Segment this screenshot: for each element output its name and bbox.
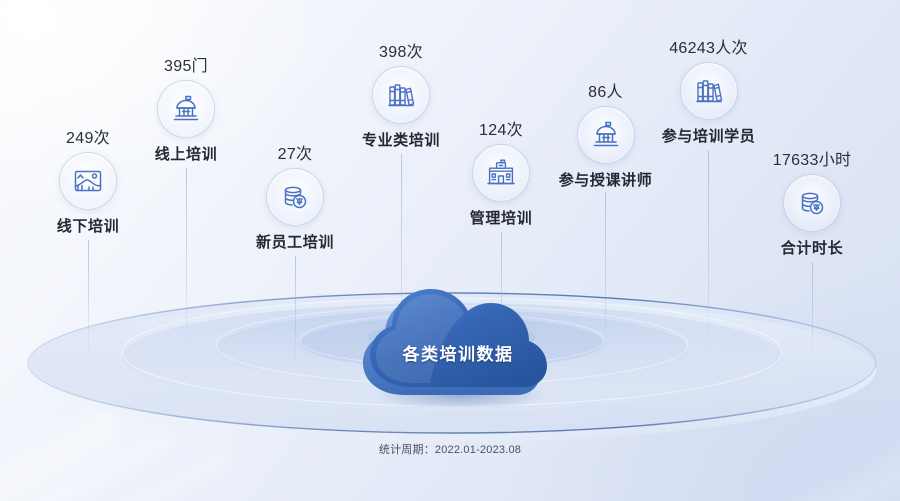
stat-number: 17633小时 — [773, 146, 852, 170]
stat-title: 专业类培训 — [362, 129, 440, 150]
stat-title: 线下培训 — [57, 215, 119, 236]
stat-number: 395门 — [164, 52, 208, 76]
stat-number: 86人 — [588, 78, 623, 102]
cloud-label: 各类培训数据 — [352, 283, 564, 407]
stat-title: 参与培训学员 — [662, 125, 756, 146]
trainees-icon — [680, 62, 738, 120]
stat-title: 合计时长 — [781, 237, 843, 258]
stat-title: 参与授课讲师 — [559, 169, 653, 190]
stat-item-total-hours[interactable]: 17633小时 合计时长 — [752, 146, 872, 258]
light-streak — [0, 422, 179, 501]
connector-line — [186, 168, 187, 356]
stat-number: 124次 — [479, 116, 523, 140]
offline-training-icon — [59, 152, 117, 210]
stat-number: 46243人次 — [669, 34, 748, 58]
total-hours-icon — [783, 174, 841, 232]
stat-item-new-employee-training[interactable]: 27次 新员工培训 — [235, 140, 355, 252]
connector-line — [295, 256, 296, 368]
instructors-icon — [577, 106, 635, 164]
stat-title: 新员工培训 — [256, 231, 334, 252]
stat-item-trainees[interactable]: 46243人次 参与培训学员 — [636, 34, 781, 146]
connector-line — [812, 262, 813, 358]
management-training-icon — [472, 144, 530, 202]
online-training-icon — [157, 80, 215, 138]
stat-number: 249次 — [66, 124, 110, 148]
stat-title: 管理培训 — [470, 207, 532, 228]
new-employee-training-icon — [266, 168, 324, 226]
stat-title: 线上培训 — [155, 143, 217, 164]
connector-line — [708, 150, 709, 356]
period-note: 统计周期：2022.01-2023.08 — [0, 441, 900, 457]
stat-number: 27次 — [278, 140, 313, 164]
stat-number: 398次 — [379, 38, 423, 62]
professional-training-icon — [372, 66, 430, 124]
infographic-canvas: 各类培训数据 249次 线下培训 395门 — [0, 0, 900, 501]
connector-line — [88, 240, 89, 358]
connector-line — [605, 192, 606, 362]
center-cloud: 各类培训数据 — [352, 283, 564, 407]
stat-item-online-training[interactable]: 395门 线上培训 — [126, 52, 246, 164]
